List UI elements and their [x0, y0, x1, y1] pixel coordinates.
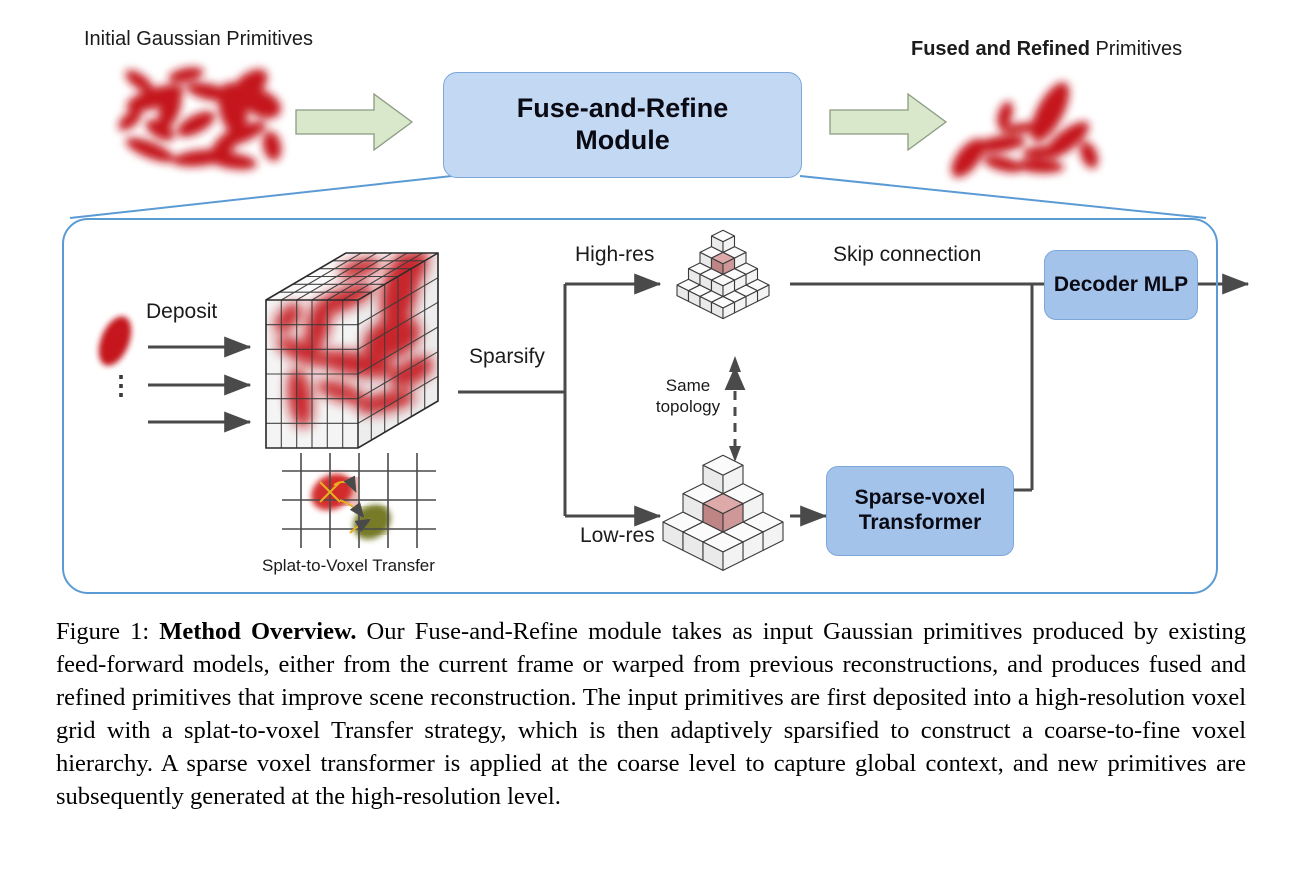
skip-connection-label: Skip connection [833, 243, 981, 267]
fused-refined-primitives-illustration [945, 77, 1101, 183]
module-box-line1: Fuse-and-Refine [517, 93, 729, 125]
zoom-funnel-connectors [70, 176, 1206, 218]
initial-primitives-label: Initial Gaussian Primitives [84, 28, 313, 51]
same-topology-line2: topology [651, 396, 725, 417]
same-topology-label: Same topology [651, 375, 725, 418]
fused-primitives-label: Fused and Refined Primitives [911, 38, 1182, 61]
fused-primitives-label-rest: Primitives [1090, 38, 1182, 60]
fused-primitives-label-bold: Fused and Refined [911, 38, 1090, 60]
transformer-line1: Sparse-voxel [855, 486, 986, 511]
caption-bold-title: Method Overview. [159, 618, 356, 645]
low-res-label: Low-res [580, 524, 655, 548]
module-box-line2: Module [517, 125, 729, 157]
green-arrow-right [830, 94, 946, 150]
decoder-mlp-box[interactable]: Decoder MLP [1044, 250, 1198, 320]
high-res-label: High-res [575, 243, 654, 267]
green-arrow-left [296, 94, 412, 150]
transformer-line2: Transformer [855, 511, 986, 536]
caption-prefix: Figure 1: [56, 618, 159, 645]
fuse-and-refine-module-box[interactable]: Fuse-and-Refine Module [443, 72, 802, 178]
figure-caption: Figure 1: Method Overview. Our Fuse-and-… [56, 616, 1246, 814]
decoder-mlp-label: Decoder MLP [1054, 273, 1188, 298]
initial-gaussian-primitives-illustration [115, 63, 286, 173]
sparse-voxel-transformer-box[interactable]: Sparse-voxel Transformer [826, 466, 1014, 556]
sparsify-label: Sparsify [469, 345, 545, 369]
ellipsis-dots: ⋮ [108, 382, 124, 389]
caption-body: Our Fuse-and-Refine module takes as inpu… [56, 618, 1246, 810]
same-topology-line1: Same [651, 375, 725, 396]
deposit-label: Deposit [146, 300, 217, 324]
figure-root: Fuse-and-Refine Module Decoder MLP Spars… [0, 0, 1300, 880]
splat-to-voxel-label: Splat-to-Voxel Transfer [262, 556, 435, 576]
